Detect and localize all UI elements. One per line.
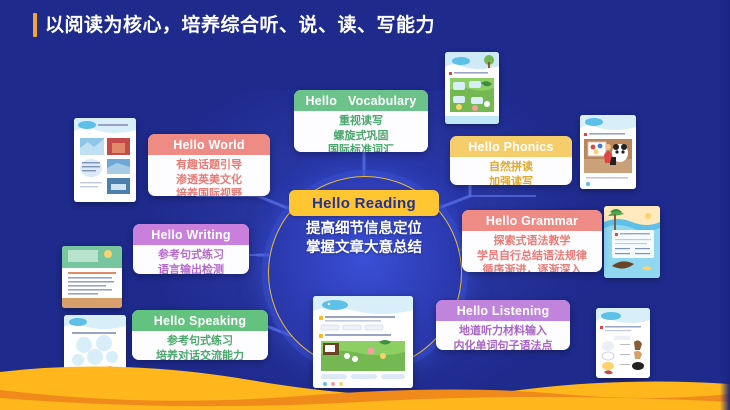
card-grammar-line-3: 循序渐进，逐渐深入 (466, 263, 598, 272)
card-writing-title: Hello Writing (133, 224, 249, 245)
card-world-title: Hello World (148, 134, 270, 155)
card-grammar[interactable]: Hello Grammar 探索式语法教学 学员自行总结语法规律 循序渐进，逐渐… (462, 210, 602, 272)
card-vocabulary-line-2: 螺旋式巩固 (298, 129, 424, 144)
card-world-line-1: 有趣话题引导 (152, 158, 266, 173)
card-grammar-title: Hello Grammar (462, 210, 602, 231)
card-phonics-line-2: 加强读写 (454, 175, 568, 186)
card-world[interactable]: Hello World 有趣话题引导 渗透英美文化 培养国际视野 (148, 134, 270, 196)
right-edge-shadow (720, 0, 730, 410)
thumbnail-writing-page (62, 246, 122, 308)
thumbnail-vocabulary-page (445, 52, 499, 124)
card-listening-line-1: 地道听力材料输入 (440, 324, 566, 339)
card-vocabulary-body: 重视读写 螺旋式巩固 国际标准词汇 (294, 111, 428, 152)
card-writing-body: 参考句式练习 语言输出检测 (133, 245, 249, 274)
card-grammar-line-2: 学员自行总结语法规律 (466, 249, 598, 264)
thumbnail-phonics-page (580, 115, 636, 189)
card-writing-line-1: 参考句式练习 (137, 248, 245, 263)
card-world-line-2: 渗透英美文化 (152, 173, 266, 188)
card-vocabulary-line-3: 国际标准词汇 (298, 143, 424, 152)
card-speaking-line-1: 参考句式练习 (136, 334, 264, 349)
decorative-wave (0, 350, 730, 410)
card-listening[interactable]: Hello Listening 地道听力材料输入 内化单词句子语法点 (436, 300, 570, 350)
card-listening-title: Hello Listening (436, 300, 570, 321)
card-phonics-title: Hello Phonics (450, 136, 572, 157)
card-phonics-body: 自然拼读 加强读写 (450, 157, 572, 185)
hub-badge[interactable]: Hello Reading (289, 190, 439, 216)
card-phonics[interactable]: Hello Phonics 自然拼读 加强读写 (450, 136, 572, 185)
card-writing[interactable]: Hello Writing 参考句式练习 语言输出检测 (133, 224, 249, 274)
card-listening-body: 地道听力材料输入 内化单词句子语法点 (436, 321, 570, 350)
card-vocabulary-title: Hello Vocabulary (294, 90, 428, 111)
thumbnail-world-page (74, 118, 136, 202)
slide-canvas: 以阅读为核心，培养综合听、说、读、写能力 (0, 0, 730, 410)
card-grammar-line-1: 探索式语法教学 (466, 234, 598, 249)
card-vocabulary[interactable]: Hello Vocabulary 重视读写 螺旋式巩固 国际标准词汇 (294, 90, 428, 152)
card-world-line-3: 培养国际视野 (152, 187, 266, 196)
card-listening-line-2: 内化单词句子语法点 (440, 339, 566, 351)
hub-line-1: 提高细节信息定位 (272, 220, 456, 239)
hub-badge-label: Hello Reading (312, 195, 416, 212)
card-speaking-title: Hello Speaking (132, 310, 268, 331)
hub-line-2: 掌握文章大意总结 (272, 239, 456, 258)
thumbnail-grammar-page (604, 206, 660, 278)
card-phonics-line-1: 自然拼读 (454, 160, 568, 175)
card-grammar-body: 探索式语法教学 学员自行总结语法规律 循序渐进，逐渐深入 (462, 231, 602, 272)
card-vocabulary-line-1: 重视读写 (298, 114, 424, 129)
card-world-body: 有趣话题引导 渗透英美文化 培养国际视野 (148, 155, 270, 196)
hub-description: 提高细节信息定位 掌握文章大意总结 (272, 220, 456, 258)
card-writing-line-2: 语言输出检测 (137, 263, 245, 275)
